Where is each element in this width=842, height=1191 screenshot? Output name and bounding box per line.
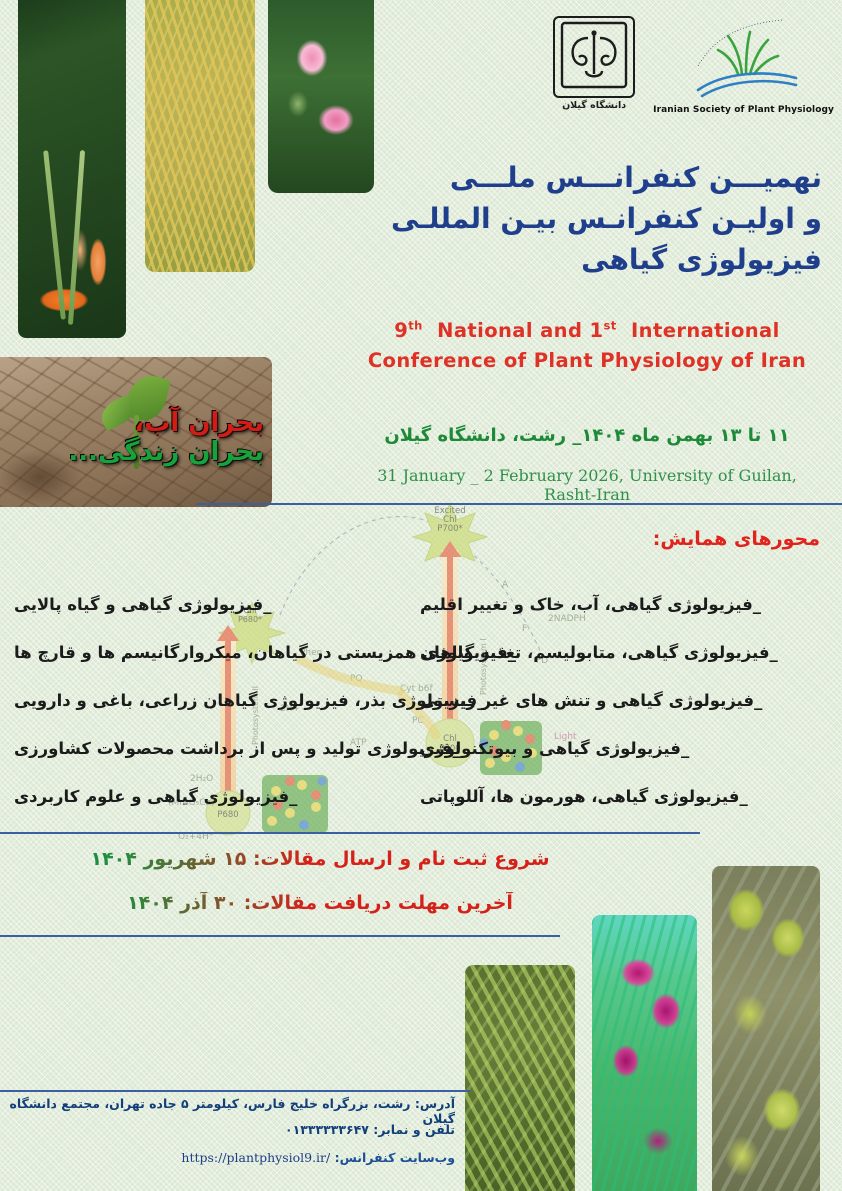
divider-deadlines xyxy=(0,832,700,834)
topics-column-left: _فیزیولوژی گیاهی و گیاه پالایی _فیزیولوژ… xyxy=(14,580,469,820)
logo-row: دانشگاه گیلان Iranian Society of Plant P… xyxy=(553,16,834,115)
title-en-mid: National and 1 xyxy=(437,319,603,342)
photo-rice-paddy xyxy=(145,0,255,272)
guilan-university-emblem-icon xyxy=(553,16,635,98)
conference-date-fa: ۱۱ تا ۱۳ بهمن ماه ۱۴۰۴_ رشت، دانشگاه گیل… xyxy=(350,425,824,446)
topic-item: _فیزیولوژی گیاهی و بیوتکنولوژی xyxy=(420,724,820,772)
drought-slogan-line2: بحران زندگی... xyxy=(68,438,264,467)
topic-item: _فیزیولوژی گیاهی، آب، خاک و تغییر اقلیم xyxy=(420,580,820,628)
website-label: وب‌سایت کنفرانس: xyxy=(335,1150,455,1165)
title-en-international: International xyxy=(631,319,780,342)
grass-and-water-emblem-icon xyxy=(653,16,834,104)
photo-green-herbs xyxy=(465,965,575,1191)
photo-peanuts xyxy=(385,0,499,140)
conference-date-en: 31 January _ 2 February 2026, University… xyxy=(350,466,824,504)
title-en-line-2: Conference of Plant Physiology of Iran xyxy=(352,346,822,376)
university-of-guilan-logo: دانشگاه گیلان xyxy=(553,16,635,111)
topic-item: _فیزیولوژی تولید و پس از برداشت محصولات … xyxy=(14,724,469,772)
photo-green-olives xyxy=(712,866,820,1191)
topic-item: _فیزیولوژی همزیستی در گیاهان، میکروارگان… xyxy=(14,628,469,676)
divider-address xyxy=(0,1090,470,1092)
iranian-society-plant-physiology-logo: Iranian Society of Plant Physiology xyxy=(653,16,834,115)
topic-item: _فیزیولوژی گیاهی، هورمون ها، آللوپاتی xyxy=(420,772,820,820)
title-fa-line-3: فیزیولوژی گیاهی xyxy=(352,240,822,281)
ordinal-9: 9 xyxy=(394,319,408,342)
society-logo-caption-en: Iranian Society of Plant Physiology xyxy=(653,105,834,115)
deadline-submission: آخرین مهلت دریافت مقالات: ۳۰ آذر ۱۴۰۴ xyxy=(0,892,640,914)
footer-website: وب‌سایت کنفرانس: https://plantphysiol9.i… xyxy=(0,1150,455,1165)
drought-slogan-line1: بحران آب، xyxy=(68,409,264,438)
topic-item: _فیزیولوژی گیاهی و علوم کاربردی xyxy=(14,772,469,820)
website-url-link[interactable]: https://plantphysiol9.ir/ xyxy=(181,1150,330,1165)
topic-item: _فیزیولوژی بذر، فیزیولوژی گیاهان زراعی، … xyxy=(14,676,469,724)
svg-text:P700*: P700* xyxy=(437,524,463,534)
university-logo-caption: دانشگاه گیلان xyxy=(553,100,635,111)
deadline-registration: شروع ثبت نام و ارسال مقالات: ۱۵ شهریور ۱… xyxy=(0,848,640,870)
ordinal-9-suffix: th xyxy=(408,319,422,333)
conference-title-en: 9th National and 1st International Confe… xyxy=(352,316,822,376)
ordinal-1-suffix: st xyxy=(603,319,616,333)
title-en-line-1: 9th National and 1st International xyxy=(352,316,822,346)
title-fa-line-1: نهمیـــن کنفرانـــس ملـــی xyxy=(352,158,822,199)
topics-heading: محورهای همایش: xyxy=(653,528,820,550)
photo-magenta-flowers xyxy=(592,915,697,1191)
footer-phone: تلفن و نمابر: ۰۱۳۳۳۳۳۳۶۴۷ xyxy=(0,1122,455,1137)
photo-white-lily xyxy=(18,0,126,338)
divider-footer-top xyxy=(0,935,560,937)
conference-title-fa: نهمیـــن کنفرانـــس ملـــی و اولیـن کنفر… xyxy=(352,158,822,281)
photo-drought-sprout-banner: بحران آب، بحران زندگی... xyxy=(0,357,272,507)
topic-item: _فیزیولوژی گیاهی و گیاه پالایی xyxy=(14,580,469,628)
title-fa-line-2: و اولیـن کنفرانـس بیـن المللـی xyxy=(352,199,822,240)
divider-topics xyxy=(196,503,842,505)
drought-slogan: بحران آب، بحران زندگی... xyxy=(68,409,264,467)
